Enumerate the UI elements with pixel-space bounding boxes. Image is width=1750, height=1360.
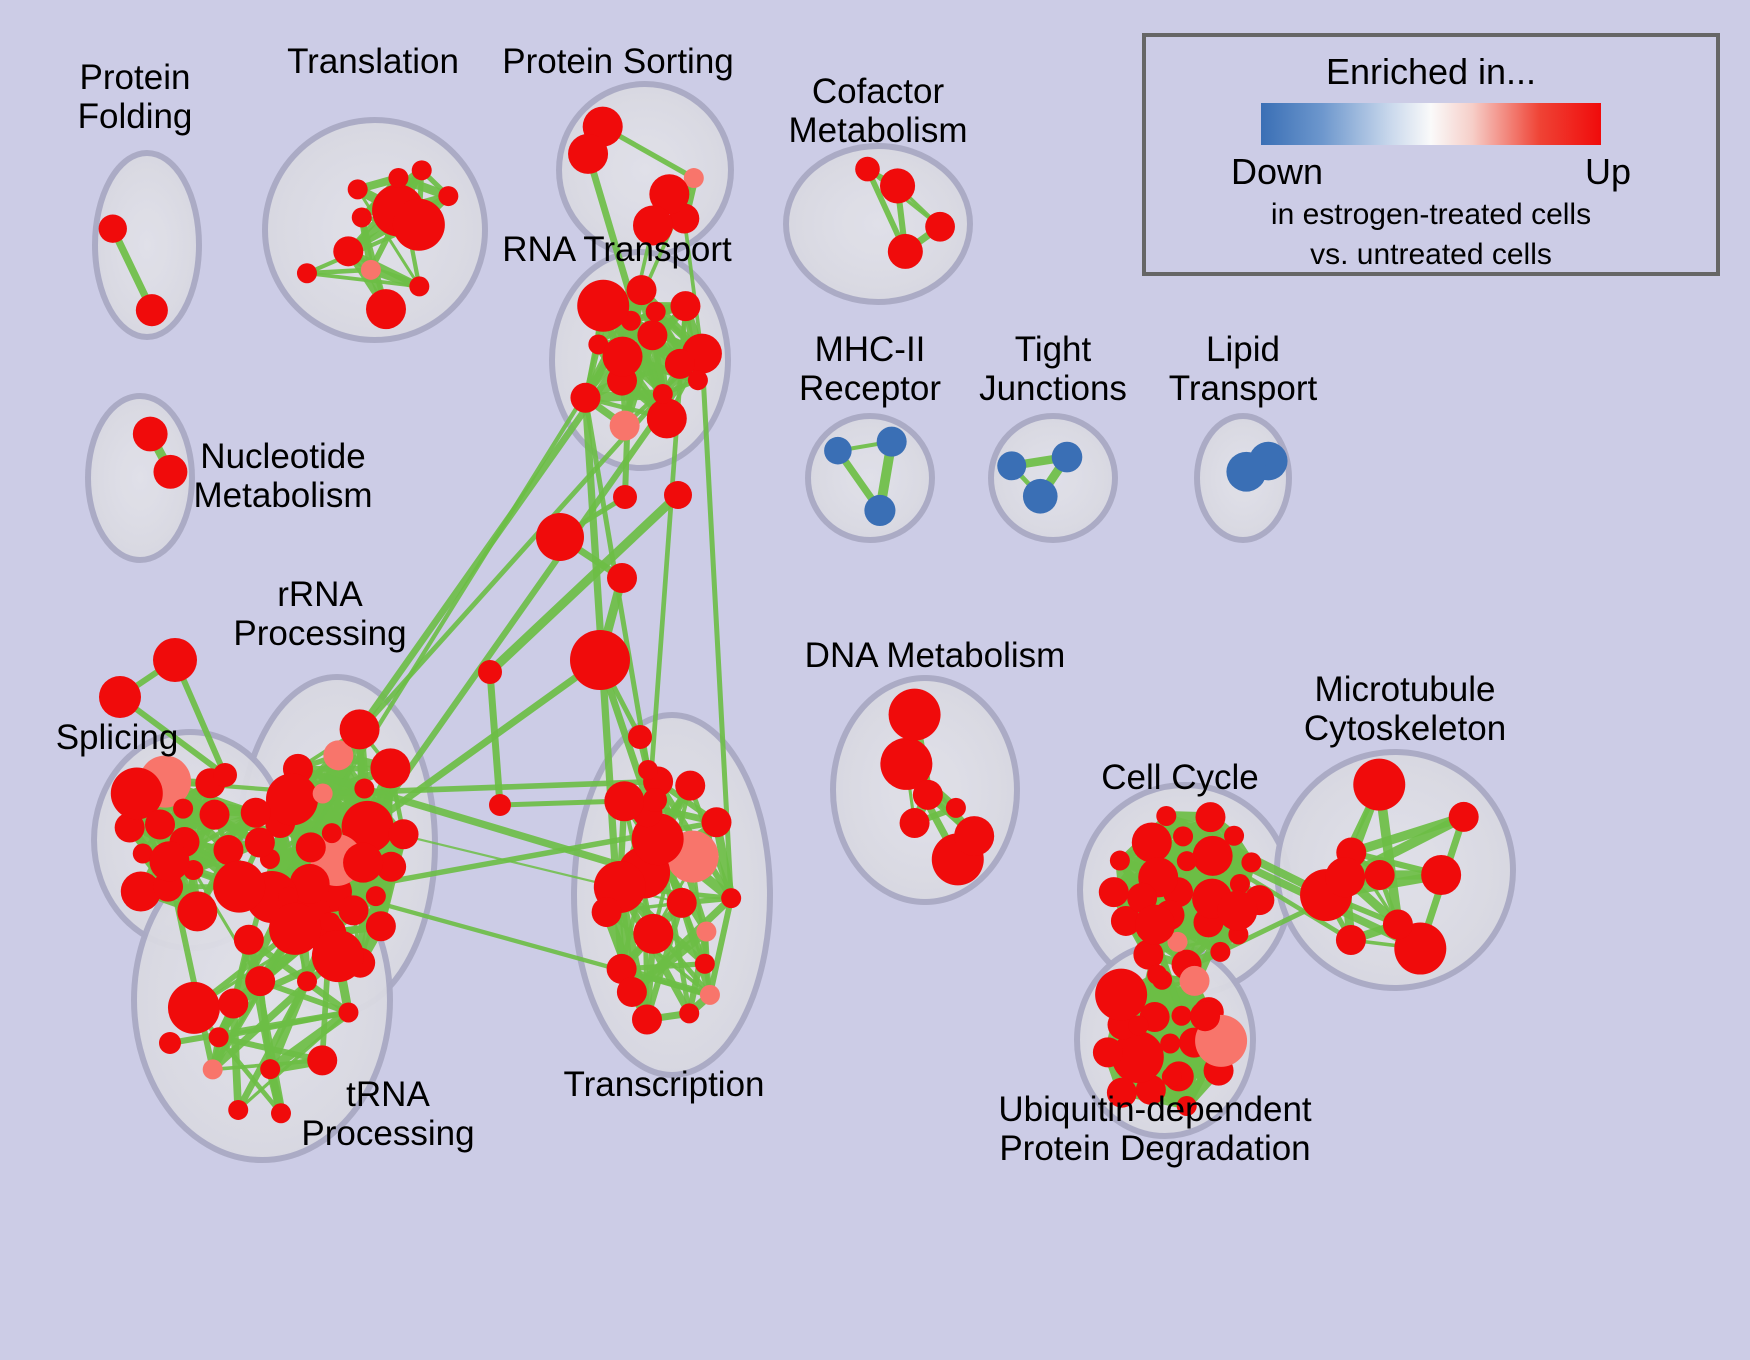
legend-color-bar (1261, 103, 1601, 145)
legend-endpoints: Down Up (1231, 151, 1631, 193)
legend-down-label: Down (1231, 151, 1323, 193)
legend-up-label: Up (1585, 151, 1631, 193)
legend-panel: Enriched in... Down Up in estrogen-treat… (1142, 33, 1720, 276)
enrichment-map-figure: Protein FoldingTranslationProtein Sortin… (0, 0, 1750, 1360)
legend-title: Enriched in... (1326, 51, 1536, 93)
legend-caption-line2: vs. untreated cells (1310, 237, 1552, 272)
legend-caption-line1: in estrogen-treated cells (1271, 197, 1591, 232)
